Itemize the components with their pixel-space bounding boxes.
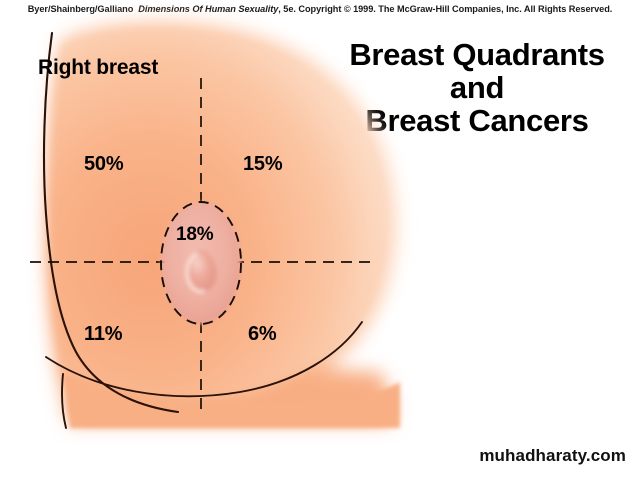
- quadrant-percent-upper-inner: 15%: [243, 153, 282, 176]
- right-breast-label: Right breast: [38, 56, 158, 80]
- quadrant-percent-lower-inner: 6%: [248, 323, 277, 346]
- site-watermark: muhadharaty.com: [479, 446, 626, 466]
- figure-canvas: Byer/Shainberg/Galliano Dimensions Of Hu…: [0, 0, 640, 480]
- quadrant-percent-central: 18%: [176, 224, 213, 246]
- quadrant-percent-upper-outer: 50%: [84, 153, 123, 176]
- quadrant-percent-lower-outer: 11%: [84, 323, 122, 346]
